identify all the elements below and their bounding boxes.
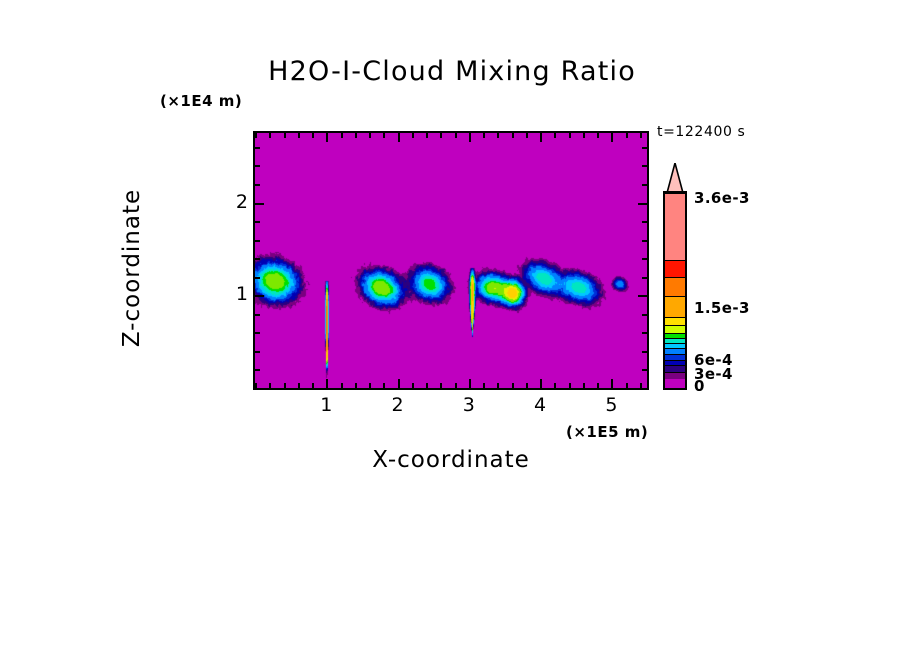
x-tick-top <box>341 133 343 138</box>
x-tick <box>526 383 528 388</box>
x-tick <box>440 383 442 388</box>
x-tick <box>469 379 471 388</box>
y-tick-right <box>642 332 647 334</box>
y-tick <box>255 184 260 186</box>
y-tick-right <box>642 165 647 167</box>
colorbar-band <box>665 277 685 296</box>
x-tick <box>569 383 571 388</box>
x-tick <box>597 383 599 388</box>
x-tick-top <box>440 133 442 138</box>
y-tick-right <box>642 147 647 149</box>
y-tick <box>255 351 260 353</box>
x-axis-units-label: (×1E5 m) <box>566 423 648 441</box>
x-tick-top <box>383 133 385 138</box>
x-tick-label: 3 <box>454 394 484 416</box>
y-tick <box>255 203 264 205</box>
x-tick-top <box>412 133 414 138</box>
x-tick-top <box>569 133 571 138</box>
x-tick <box>626 383 628 388</box>
x-tick-label: 1 <box>311 394 341 416</box>
y-tick-right <box>642 388 647 390</box>
x-tick-label: 5 <box>596 394 626 416</box>
x-tick-top <box>483 133 485 138</box>
x-tick-top <box>269 133 271 138</box>
y-tick-right <box>642 258 647 260</box>
x-tick <box>312 383 314 388</box>
x-tick-top <box>640 133 642 138</box>
y-tick-right <box>642 240 647 242</box>
contour-canvas <box>255 133 647 388</box>
y-tick <box>255 332 260 334</box>
y-tick-label: 1 <box>218 283 248 305</box>
y-tick-right <box>642 351 647 353</box>
y-tick <box>255 258 260 260</box>
y-tick <box>255 147 260 149</box>
colorbar-tick-label: 0 <box>694 377 705 395</box>
x-tick-top <box>512 133 514 138</box>
colorbar-band <box>665 193 685 259</box>
x-tick-top <box>326 133 328 142</box>
x-tick <box>426 383 428 388</box>
x-tick <box>383 383 385 388</box>
x-tick-top <box>455 133 457 138</box>
colorbar-band <box>665 296 685 317</box>
x-tick-top <box>298 133 300 138</box>
x-tick-top <box>355 133 357 138</box>
x-tick <box>512 383 514 388</box>
x-tick-top <box>554 133 556 138</box>
x-tick-top <box>255 133 257 138</box>
figure-root: H2O-I-Cloud Mixing Ratio (×1E4 m) t=1224… <box>0 0 904 654</box>
colorbar-band <box>665 260 685 278</box>
x-tick <box>398 379 400 388</box>
x-tick-top <box>611 133 613 142</box>
x-tick-top <box>284 133 286 138</box>
x-tick-top <box>312 133 314 138</box>
colorbar-band <box>665 372 685 379</box>
y-tick <box>255 369 260 371</box>
y-tick-right <box>642 184 647 186</box>
y-tick <box>255 165 260 167</box>
y-tick <box>255 314 260 316</box>
x-tick <box>554 383 556 388</box>
y-tick <box>255 277 260 279</box>
x-tick-top <box>426 133 428 138</box>
x-tick-top <box>597 133 599 138</box>
x-tick-label: 2 <box>383 394 413 416</box>
y-tick <box>255 240 260 242</box>
x-tick <box>269 383 271 388</box>
x-tick <box>483 383 485 388</box>
x-tick-top <box>369 133 371 138</box>
x-axis-title: X-coordinate <box>253 447 649 473</box>
plot-area <box>253 131 649 390</box>
x-tick <box>298 383 300 388</box>
x-tick-top <box>497 133 499 138</box>
x-tick-top <box>469 133 471 142</box>
y-tick-right <box>642 314 647 316</box>
x-tick-top <box>526 133 528 138</box>
colorbar-band <box>665 325 685 333</box>
colorbar-band <box>665 317 685 325</box>
x-tick <box>355 383 357 388</box>
x-tick-top <box>540 133 542 142</box>
x-tick <box>540 379 542 388</box>
y-axis-title: Z-coordinate <box>119 128 145 408</box>
colorbar-tick-label: 3.6e-3 <box>694 189 750 207</box>
x-tick-top <box>398 133 400 142</box>
colorbar <box>663 191 687 390</box>
x-tick <box>583 383 585 388</box>
y-tick-label: 2 <box>218 191 248 213</box>
x-tick <box>497 383 499 388</box>
x-tick <box>341 383 343 388</box>
y-tick <box>255 388 260 390</box>
x-tick-top <box>626 133 628 138</box>
x-tick-label: 4 <box>525 394 555 416</box>
y-tick-right <box>642 277 647 279</box>
y-tick-right <box>642 369 647 371</box>
y-axis-units-label: (×1E4 m) <box>160 92 242 110</box>
y-tick <box>255 295 264 297</box>
x-tick <box>611 379 613 388</box>
timestamp-label: t=122400 s <box>657 124 745 140</box>
x-tick <box>284 383 286 388</box>
colorbar-arrow-head <box>663 163 687 193</box>
y-tick-right <box>638 203 647 205</box>
y-tick-right <box>638 295 647 297</box>
x-tick-top <box>583 133 585 138</box>
page-title: H2O-I-Cloud Mixing Ratio <box>0 56 904 87</box>
x-tick <box>412 383 414 388</box>
colorbar-band <box>665 379 685 388</box>
y-tick <box>255 221 260 223</box>
x-tick <box>455 383 457 388</box>
y-tick-right <box>642 221 647 223</box>
x-tick <box>369 383 371 388</box>
x-tick <box>326 379 328 388</box>
colorbar-tick-label: 1.5e-3 <box>694 299 750 317</box>
